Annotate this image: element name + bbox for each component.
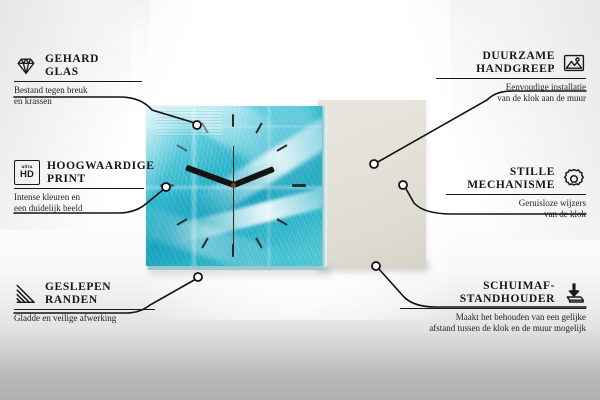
feature-title: HOOGWAARDIGE PRINT (47, 160, 155, 185)
infographic-canvas: GEHARD GLAS Bestand tegen breuk en krass… (0, 0, 600, 400)
feature-description: Bestand tegen breuk en krassen (14, 85, 164, 107)
callout-dot-gehard-glas (193, 121, 201, 129)
spacer-arrow-icon (562, 281, 586, 305)
feature-hoogwaardige-print[interactable]: ultra HD HOOGWAARDIGE PRINT Intense kleu… (14, 160, 184, 214)
feature-rule (14, 188, 144, 189)
feature-description: Intense kleuren en een duidelijk beeld (14, 192, 184, 214)
feature-header: GESLEPEN RANDEN (14, 281, 184, 306)
feature-title: GESLEPEN RANDEN (45, 281, 111, 306)
feature-rule (446, 194, 586, 195)
feature-title: SCHUIMAF- STANDHOUDER (400, 280, 555, 305)
feature-geslepen-randen[interactable]: GESLEPEN RANDEN Gladde en veilige afwerk… (14, 281, 184, 324)
callout-dot-geslepen-randen (194, 273, 202, 281)
feature-stille-mechanisme[interactable]: STILLE MECHANISME Geruisloze wijzers van… (446, 166, 586, 220)
feature-description: Gladde en veilige afwerking (14, 313, 184, 324)
feature-schuimafstandhouder[interactable]: SCHUIMAF- STANDHOUDER Maakt het behouden… (400, 280, 586, 334)
callout-dot-stille-mechanisme (399, 181, 407, 189)
ultra-hd-icon: ultra HD (14, 160, 40, 185)
feature-description: Maakt het behouden van een gelijke afsta… (400, 312, 586, 334)
callout-dot-schuimafstandhouder (372, 262, 380, 270)
feature-rule (436, 78, 586, 79)
feature-description: Geruisloze wijzers van de klok (446, 198, 586, 220)
diamond-icon (14, 54, 38, 78)
feature-duurzame-handgreep[interactable]: DUURZAME HANDGREEP Eenvoudige installati… (436, 50, 586, 104)
feature-title: DUURZAME HANDGREEP (436, 50, 555, 75)
feature-header: GEHARD GLAS (14, 53, 164, 78)
picture-frame-icon (562, 51, 586, 75)
bevelled-edge-icon (14, 282, 38, 306)
feature-header: ultra HD HOOGWAARDIGE PRINT (14, 160, 184, 185)
feature-gehard-glas[interactable]: GEHARD GLAS Bestand tegen breuk en krass… (14, 53, 164, 107)
feature-rule (400, 308, 586, 309)
feature-header: STILLE MECHANISME (446, 166, 586, 191)
feature-title: STILLE MECHANISME (446, 166, 555, 191)
feature-rule (14, 81, 142, 82)
feature-description: Eenvoudige installatie van de klok aan d… (436, 82, 586, 104)
callout-dot-duurzame-handgreep (370, 160, 378, 168)
gear-icon (562, 167, 586, 191)
feature-header: SCHUIMAF- STANDHOUDER (400, 280, 586, 305)
feature-header: DUURZAME HANDGREEP (436, 50, 586, 75)
feature-title: GEHARD GLAS (45, 53, 99, 78)
feature-rule (14, 309, 155, 310)
